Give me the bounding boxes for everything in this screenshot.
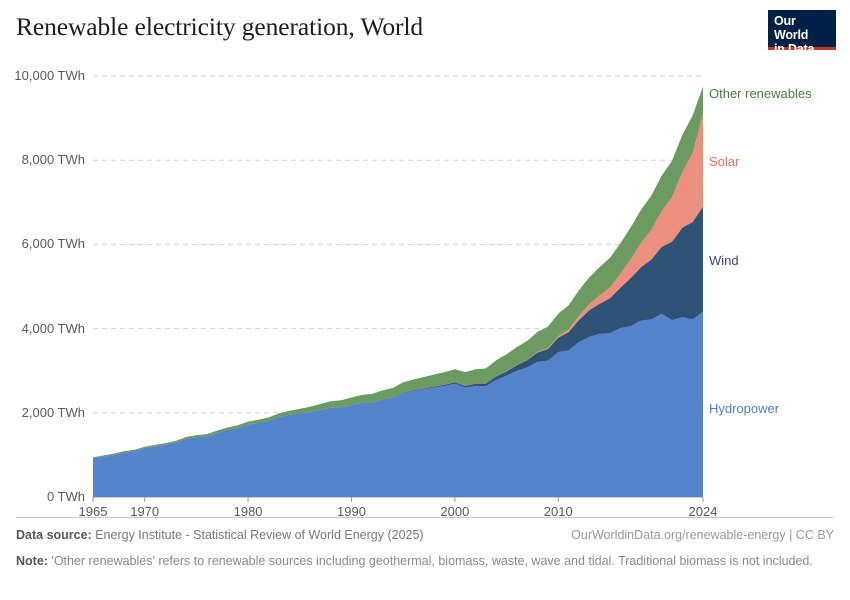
note-label: Note: [16, 554, 48, 568]
y-axis-tick-label: 2,000 TWh [5, 405, 85, 420]
series-label-other-renewables[interactable]: Other renewables [709, 86, 812, 101]
note-text: 'Other renewables' refers to renewable s… [48, 554, 813, 568]
series-label-solar[interactable]: Solar [709, 154, 739, 169]
owid-logo-line1: Our World [774, 14, 831, 42]
chart-header: Renewable electricity generation, World … [0, 0, 850, 62]
chart-footer: Data source: Energy Institute - Statisti… [0, 517, 850, 600]
footer-divider [16, 517, 834, 518]
chart-note: Note: 'Other renewables' refers to renew… [16, 553, 834, 570]
stacked-area-chart[interactable] [0, 62, 850, 517]
y-axis-tick-label: 8,000 TWh [5, 152, 85, 167]
owid-chart-page: Renewable electricity generation, World … [0, 0, 850, 600]
series-label-wind[interactable]: Wind [709, 253, 739, 268]
y-axis-tick-label: 10,000 TWh [5, 68, 85, 83]
owid-logo[interactable]: Our World in Data [768, 10, 836, 50]
area-series-hydropower[interactable] [93, 312, 703, 497]
owid-logo-line2: in Data [774, 42, 831, 56]
attribution-link[interactable]: OurWorldinData.org/renewable-energy | CC… [571, 528, 834, 542]
y-axis-tick-label: 0 TWh [5, 489, 85, 504]
y-axis-tick-label: 4,000 TWh [5, 321, 85, 336]
data-source-text: Energy Institute - Statistical Review of… [92, 528, 424, 542]
chart-svg-holder [0, 62, 850, 522]
series-label-hydropower[interactable]: Hydropower [709, 401, 779, 416]
footer-source-row: Data source: Energy Institute - Statisti… [16, 528, 834, 544]
data-source: Data source: Energy Institute - Statisti… [16, 528, 424, 542]
y-axis-tick-label: 6,000 TWh [5, 236, 85, 251]
chart-plot-region: 0 TWh2,000 TWh4,000 TWh6,000 TWh8,000 TW… [0, 62, 850, 517]
page-title: Renewable electricity generation, World [16, 12, 423, 42]
data-source-label: Data source: [16, 528, 92, 542]
